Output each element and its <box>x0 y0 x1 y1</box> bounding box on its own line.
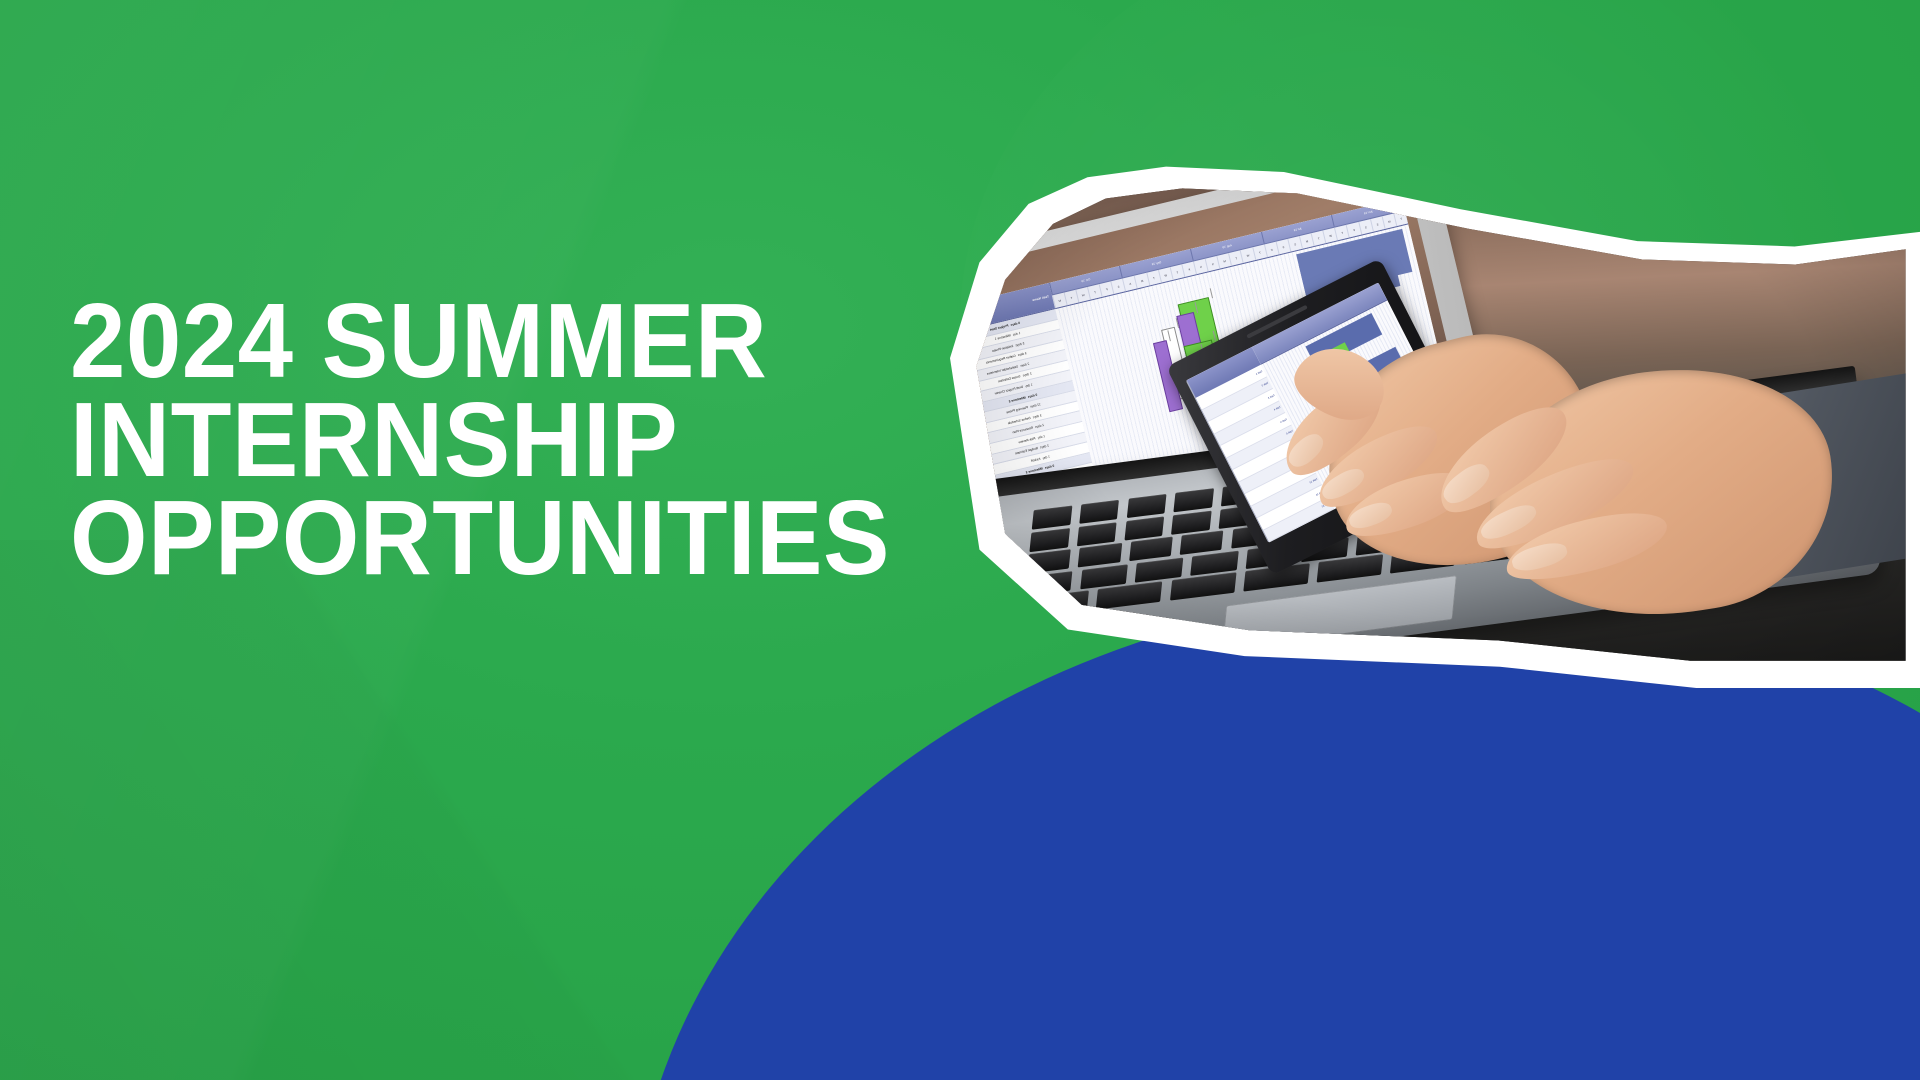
keyboard-key[interactable] <box>1078 499 1118 523</box>
keyboard-key[interactable] <box>1028 527 1068 551</box>
phone-task-name: Task 1 <box>1255 370 1263 376</box>
headline-line-2: INTERNSHIP <box>70 391 890 490</box>
phone-task-name: Task 5 <box>1280 418 1288 424</box>
phone-task-name: Task 3 <box>1268 394 1276 400</box>
photo-content: Task Name 0 daysProject Start1 dayMilest… <box>962 168 1920 676</box>
gantt-dependency-link <box>1209 288 1212 298</box>
task-name-header: Task Name <box>1031 295 1048 303</box>
keyboard-key[interactable] <box>1123 516 1163 540</box>
phone-task-name: Task 10 <box>1309 478 1318 485</box>
fingernail <box>1347 499 1395 532</box>
phone-task-name: Task 4 <box>1274 406 1282 412</box>
keyboard-key[interactable] <box>1031 505 1071 529</box>
headline-line-3: OPPORTUNITIES <box>70 489 890 588</box>
internship-banner: 2024 SUMMER INTERNSHIP OPPORTUNITIES Tas… <box>0 0 1920 1080</box>
hero-photo: Task Name 0 daysProject Start1 dayMilest… <box>962 168 1920 676</box>
keyboard-key[interactable] <box>1079 564 1127 589</box>
keyboard-key[interactable] <box>1170 510 1210 534</box>
phone-task-name: Task 2 <box>1262 382 1270 388</box>
keyboard-key[interactable] <box>1189 550 1237 575</box>
keyboard-key[interactable] <box>1173 488 1213 512</box>
keyboard-key[interactable] <box>1076 521 1116 545</box>
keyboard-key[interactable] <box>1128 536 1172 561</box>
keyboard-key[interactable] <box>1077 543 1121 568</box>
page-title: 2024 SUMMER INTERNSHIP OPPORTUNITIES <box>70 292 890 588</box>
keyboard-key[interactable] <box>1134 557 1182 582</box>
keyboard-key[interactable] <box>1125 494 1165 518</box>
keyboard-key[interactable] <box>1179 530 1223 555</box>
headline-line-1: 2024 SUMMER <box>70 292 890 391</box>
